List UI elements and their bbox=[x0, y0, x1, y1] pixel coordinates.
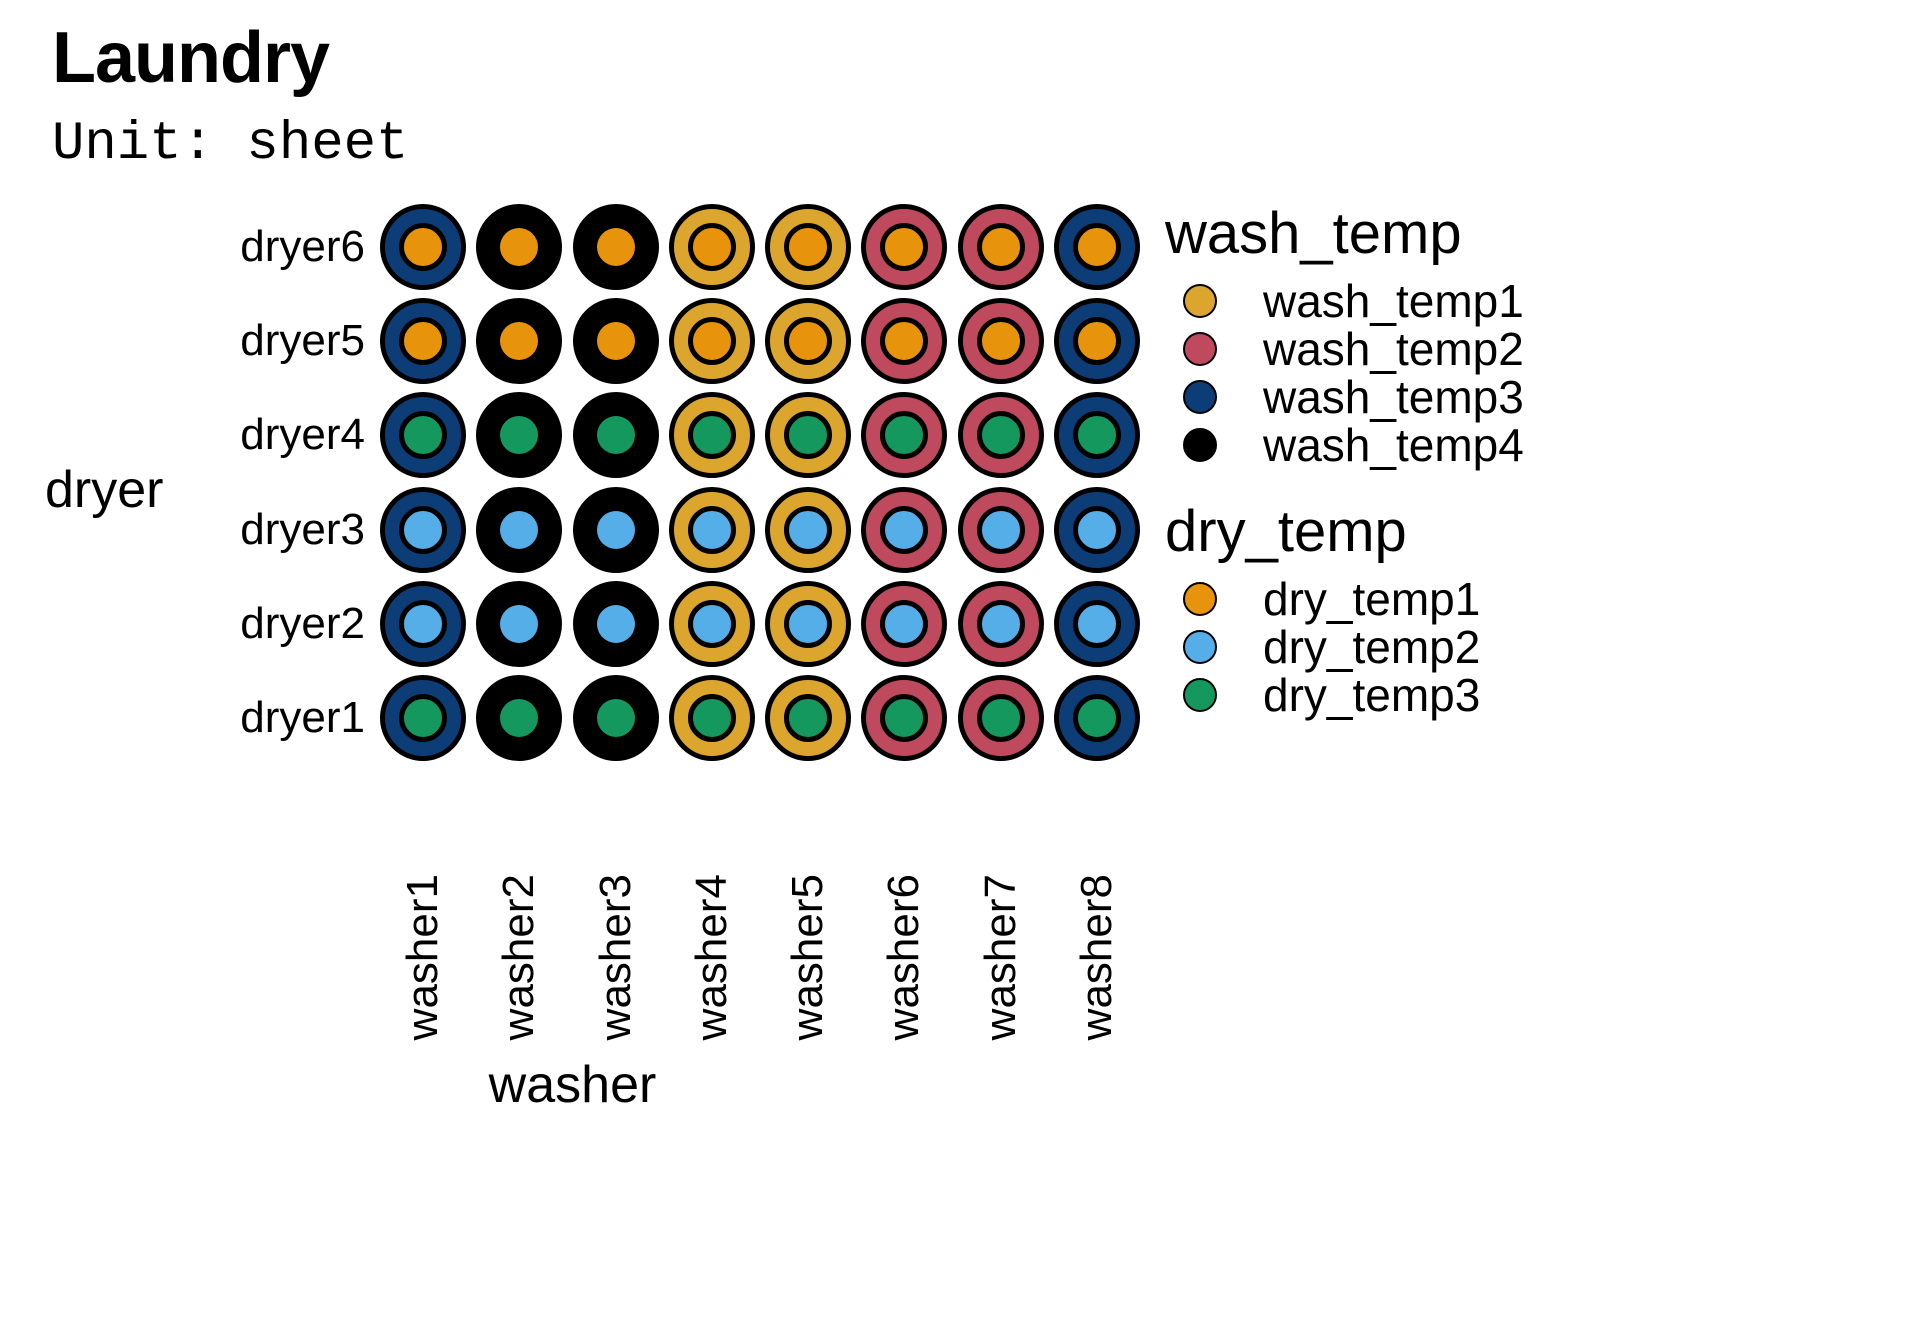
matrix-cell-washer1-dryer4 bbox=[380, 392, 466, 478]
matrix-cell-washer3-dryer5 bbox=[573, 298, 659, 384]
legend-item-wash_temp2[interactable]: wash_temp2 bbox=[1165, 325, 1905, 373]
matrix-cell-washer8-dryer5 bbox=[1054, 298, 1140, 384]
matrix-cell-washer7-dryer1 bbox=[958, 675, 1044, 761]
legend-swatch-icon bbox=[1183, 678, 1217, 712]
matrix-cell-washer4-dryer5 bbox=[669, 298, 755, 384]
dry-temp-dot bbox=[880, 694, 928, 742]
dry-temp-dot bbox=[500, 416, 538, 454]
legend-panel: wash_tempwash_temp1wash_temp2wash_temp3w… bbox=[1165, 205, 1905, 719]
matrix-cell-washer1-dryer5 bbox=[380, 298, 466, 384]
matrix-cell-washer4-dryer6 bbox=[669, 204, 755, 290]
dry-temp-dot bbox=[880, 317, 928, 365]
legend-swatch-icon bbox=[1183, 380, 1217, 414]
x-axis-tick-labels: washer1washer2washer3washer4washer5washe… bbox=[375, 780, 1145, 1060]
matrix-cell-washer7-dryer6 bbox=[958, 204, 1044, 290]
matrix-cell-washer8-dryer6 bbox=[1054, 204, 1140, 290]
y-tick-dryer4: dryer4 bbox=[240, 410, 365, 460]
dry-temp-dot bbox=[784, 223, 832, 271]
matrix-cell-washer7-dryer3 bbox=[958, 487, 1044, 573]
matrix-cell-washer6-dryer2 bbox=[861, 581, 947, 667]
legend-swatch-icon bbox=[1183, 332, 1217, 366]
x-tick-label: washer5 bbox=[783, 874, 833, 1040]
dry-temp-dot bbox=[784, 600, 832, 648]
x-tick-label: washer6 bbox=[879, 874, 929, 1040]
dry-temp-dot bbox=[1073, 223, 1121, 271]
matrix-cell-washer6-dryer4 bbox=[861, 392, 947, 478]
dry-temp-dot bbox=[1073, 506, 1121, 554]
matrix-cell-washer8-dryer4 bbox=[1054, 392, 1140, 478]
y-tick-dryer5: dryer5 bbox=[240, 316, 365, 366]
legend-title-dry_temp: dry_temp bbox=[1165, 503, 1905, 561]
dry-temp-dot bbox=[880, 223, 928, 271]
dry-temp-dot bbox=[784, 694, 832, 742]
dry-temp-dot bbox=[500, 605, 538, 643]
matrix-cell-washer1-dryer3 bbox=[380, 487, 466, 573]
y-tick-dryer1: dryer1 bbox=[240, 693, 365, 743]
matrix-cell-washer4-dryer3 bbox=[669, 487, 755, 573]
y-axis-tick-labels: dryer1dryer2dryer3dryer4dryer5dryer6 bbox=[175, 200, 365, 765]
legend-item-wash_temp1[interactable]: wash_temp1 bbox=[1165, 277, 1905, 325]
dry-temp-dot bbox=[597, 699, 635, 737]
dry-temp-dot bbox=[597, 416, 635, 454]
matrix-cell-washer8-dryer1 bbox=[1054, 675, 1140, 761]
matrix-cell-washer1-dryer1 bbox=[380, 675, 466, 761]
matrix-cell-washer1-dryer2 bbox=[380, 581, 466, 667]
legend-item-label: wash_temp3 bbox=[1263, 374, 1524, 420]
matrix-cell-washer5-dryer2 bbox=[765, 581, 851, 667]
dry-temp-dot bbox=[977, 600, 1025, 648]
x-tick-label: washer1 bbox=[398, 874, 448, 1040]
legend-title-wash_temp: wash_temp bbox=[1165, 205, 1905, 263]
legend-item-wash_temp4[interactable]: wash_temp4 bbox=[1165, 421, 1905, 469]
matrix-cell-washer2-dryer3 bbox=[476, 487, 562, 573]
legend-item-dry_temp1[interactable]: dry_temp1 bbox=[1165, 575, 1905, 623]
dry-temp-dot bbox=[1073, 694, 1121, 742]
matrix-cell-washer3-dryer4 bbox=[573, 392, 659, 478]
matrix-cell-washer6-dryer3 bbox=[861, 487, 947, 573]
matrix-cell-washer1-dryer6 bbox=[380, 204, 466, 290]
dry-temp-dot bbox=[977, 317, 1025, 365]
y-tick-dryer2: dryer2 bbox=[240, 599, 365, 649]
legend-swatch-icon bbox=[1183, 284, 1217, 318]
matrix-cell-washer3-dryer1 bbox=[573, 675, 659, 761]
matrix-cell-washer7-dryer5 bbox=[958, 298, 1044, 384]
dry-temp-dot bbox=[399, 694, 447, 742]
dry-temp-dot bbox=[399, 506, 447, 554]
y-tick-dryer3: dryer3 bbox=[240, 505, 365, 555]
dry-temp-dot bbox=[977, 694, 1025, 742]
dry-temp-dot bbox=[688, 694, 736, 742]
matrix-cell-washer4-dryer2 bbox=[669, 581, 755, 667]
dry-temp-dot bbox=[784, 506, 832, 554]
matrix-cell-washer5-dryer6 bbox=[765, 204, 851, 290]
legend-item-label: dry_temp2 bbox=[1263, 624, 1480, 670]
dry-temp-dot bbox=[500, 699, 538, 737]
dry-temp-dot bbox=[977, 223, 1025, 271]
y-axis-title: dryer bbox=[45, 460, 163, 520]
legend-swatch-icon bbox=[1183, 582, 1217, 616]
matrix-cell-washer5-dryer4 bbox=[765, 392, 851, 478]
matrix-cell-washer7-dryer2 bbox=[958, 581, 1044, 667]
dry-temp-dot bbox=[500, 322, 538, 360]
matrix-cell-washer6-dryer6 bbox=[861, 204, 947, 290]
dry-temp-dot bbox=[977, 411, 1025, 459]
matrix-cell-washer3-dryer6 bbox=[573, 204, 659, 290]
dry-temp-dot bbox=[597, 228, 635, 266]
dry-temp-dot bbox=[597, 605, 635, 643]
dry-temp-dot bbox=[597, 322, 635, 360]
x-tick-label: washer4 bbox=[687, 874, 737, 1040]
dry-temp-dot bbox=[977, 506, 1025, 554]
dry-temp-dot bbox=[784, 317, 832, 365]
matrix-cell-washer8-dryer2 bbox=[1054, 581, 1140, 667]
dry-temp-dot bbox=[688, 223, 736, 271]
matrix-cell-washer6-dryer1 bbox=[861, 675, 947, 761]
dry-temp-dot bbox=[688, 411, 736, 459]
dry-temp-dot bbox=[399, 600, 447, 648]
dry-temp-dot bbox=[399, 317, 447, 365]
dry-temp-dot bbox=[688, 317, 736, 365]
dry-temp-dot bbox=[399, 223, 447, 271]
legend-item-label: wash_temp2 bbox=[1263, 326, 1524, 372]
matrix-cell-washer2-dryer6 bbox=[476, 204, 562, 290]
y-tick-dryer6: dryer6 bbox=[240, 222, 365, 272]
legend-item-label: wash_temp1 bbox=[1263, 278, 1524, 324]
dry-temp-dot bbox=[880, 411, 928, 459]
bubble-matrix-plot bbox=[375, 200, 1145, 765]
legend-swatch-icon bbox=[1183, 428, 1217, 462]
dry-temp-dot bbox=[1073, 317, 1121, 365]
dry-temp-dot bbox=[880, 600, 928, 648]
page-title: Laundry bbox=[52, 22, 329, 94]
matrix-cell-washer5-dryer3 bbox=[765, 487, 851, 573]
dry-temp-dot bbox=[1073, 600, 1121, 648]
dry-temp-dot bbox=[399, 411, 447, 459]
matrix-cell-washer7-dryer4 bbox=[958, 392, 1044, 478]
dry-temp-dot bbox=[1073, 411, 1121, 459]
dry-temp-dot bbox=[880, 506, 928, 554]
dry-temp-dot bbox=[597, 511, 635, 549]
matrix-cell-washer4-dryer4 bbox=[669, 392, 755, 478]
matrix-cell-washer6-dryer5 bbox=[861, 298, 947, 384]
matrix-cell-washer5-dryer5 bbox=[765, 298, 851, 384]
matrix-cell-washer3-dryer3 bbox=[573, 487, 659, 573]
dry-temp-dot bbox=[784, 411, 832, 459]
legend-item-dry_temp2[interactable]: dry_temp2 bbox=[1165, 623, 1905, 671]
dry-temp-dot bbox=[688, 506, 736, 554]
x-axis-title: washer bbox=[0, 1055, 1145, 1115]
legend-item-label: dry_temp3 bbox=[1263, 672, 1480, 718]
legend-swatch-icon bbox=[1183, 630, 1217, 664]
legend-item-dry_temp3[interactable]: dry_temp3 bbox=[1165, 671, 1905, 719]
x-tick-label: washer2 bbox=[494, 874, 544, 1040]
matrix-cell-washer2-dryer2 bbox=[476, 581, 562, 667]
legend-item-label: wash_temp4 bbox=[1263, 422, 1524, 468]
x-tick-label: washer3 bbox=[591, 874, 641, 1040]
page-subtitle: Unit: sheet bbox=[52, 118, 408, 172]
matrix-cell-washer5-dryer1 bbox=[765, 675, 851, 761]
matrix-cell-washer2-dryer1 bbox=[476, 675, 562, 761]
dry-temp-dot bbox=[500, 511, 538, 549]
x-tick-label: washer8 bbox=[1072, 874, 1122, 1040]
matrix-cell-washer2-dryer4 bbox=[476, 392, 562, 478]
x-tick-label: washer7 bbox=[976, 874, 1026, 1040]
dry-temp-dot bbox=[688, 600, 736, 648]
legend-item-wash_temp3[interactable]: wash_temp3 bbox=[1165, 373, 1905, 421]
matrix-cell-washer4-dryer1 bbox=[669, 675, 755, 761]
dry-temp-dot bbox=[500, 228, 538, 266]
legend-item-label: dry_temp1 bbox=[1263, 576, 1480, 622]
matrix-cell-washer8-dryer3 bbox=[1054, 487, 1140, 573]
matrix-cell-washer2-dryer5 bbox=[476, 298, 562, 384]
matrix-cell-washer3-dryer2 bbox=[573, 581, 659, 667]
